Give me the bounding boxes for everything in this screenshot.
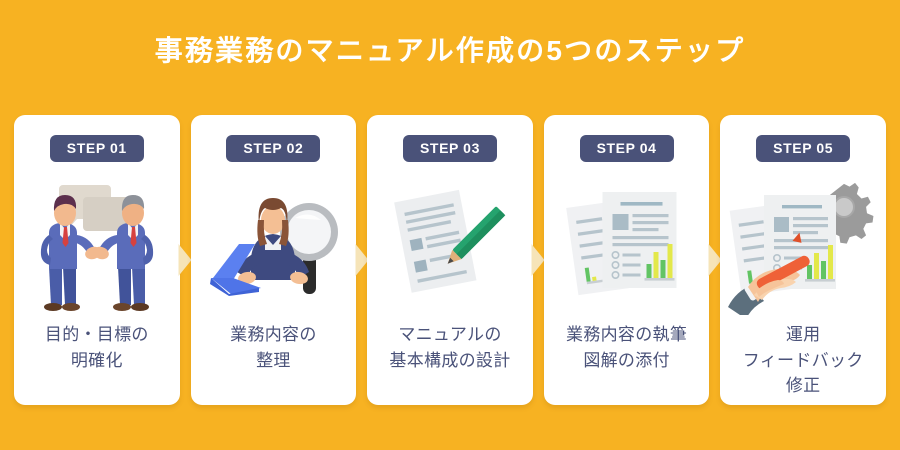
documents-chart-icon bbox=[564, 180, 689, 310]
hand-pen-gear-documents-icon bbox=[728, 175, 878, 315]
step-badge-1: STEP 01 bbox=[50, 135, 144, 162]
steps-row: STEP 01 bbox=[14, 115, 886, 405]
step-caption-5: 運用 フィードバック 修正 bbox=[737, 322, 870, 399]
arrow-3-to-4 bbox=[533, 115, 544, 405]
two-businessmen-talking-icon bbox=[27, 175, 167, 315]
step-caption-2: 業務内容の 整理 bbox=[224, 322, 323, 373]
step-badge-5: STEP 05 bbox=[756, 135, 850, 162]
step-caption-1: 目的・目標の 明確化 bbox=[39, 322, 155, 373]
arrow-2-to-3 bbox=[356, 115, 367, 405]
step-illustration-2 bbox=[191, 170, 357, 320]
page-title: 事務業務のマニュアル作成の5つのステップ bbox=[0, 34, 900, 68]
step-caption-3: マニュアルの 基本構成の設計 bbox=[383, 322, 516, 373]
arrow-4-to-5 bbox=[709, 115, 720, 405]
step-illustration-5 bbox=[720, 170, 886, 320]
step-caption-4: 業務内容の執筆 図解の添付 bbox=[560, 322, 693, 373]
step-card-3[interactable]: STEP 03 bbox=[367, 115, 533, 405]
step-card-5[interactable]: STEP 05 bbox=[720, 115, 886, 405]
step-illustration-3 bbox=[367, 170, 533, 320]
step-card-1[interactable]: STEP 01 bbox=[14, 115, 180, 405]
step-badge-2: STEP 02 bbox=[226, 135, 320, 162]
step-badge-3: STEP 03 bbox=[403, 135, 497, 162]
infographic-poster: 事務業務のマニュアル作成の5つのステップ STEP 01 bbox=[0, 0, 900, 450]
step-illustration-4 bbox=[544, 170, 710, 320]
document-pencil-icon bbox=[385, 183, 515, 308]
woman-laptop-magnifier-icon bbox=[203, 180, 343, 310]
arrow-1-to-2 bbox=[180, 115, 191, 405]
step-card-4[interactable]: STEP 04 bbox=[544, 115, 710, 405]
step-card-2[interactable]: STEP 02 bbox=[191, 115, 357, 405]
step-badge-4: STEP 04 bbox=[580, 135, 674, 162]
step-illustration-1 bbox=[14, 170, 180, 320]
